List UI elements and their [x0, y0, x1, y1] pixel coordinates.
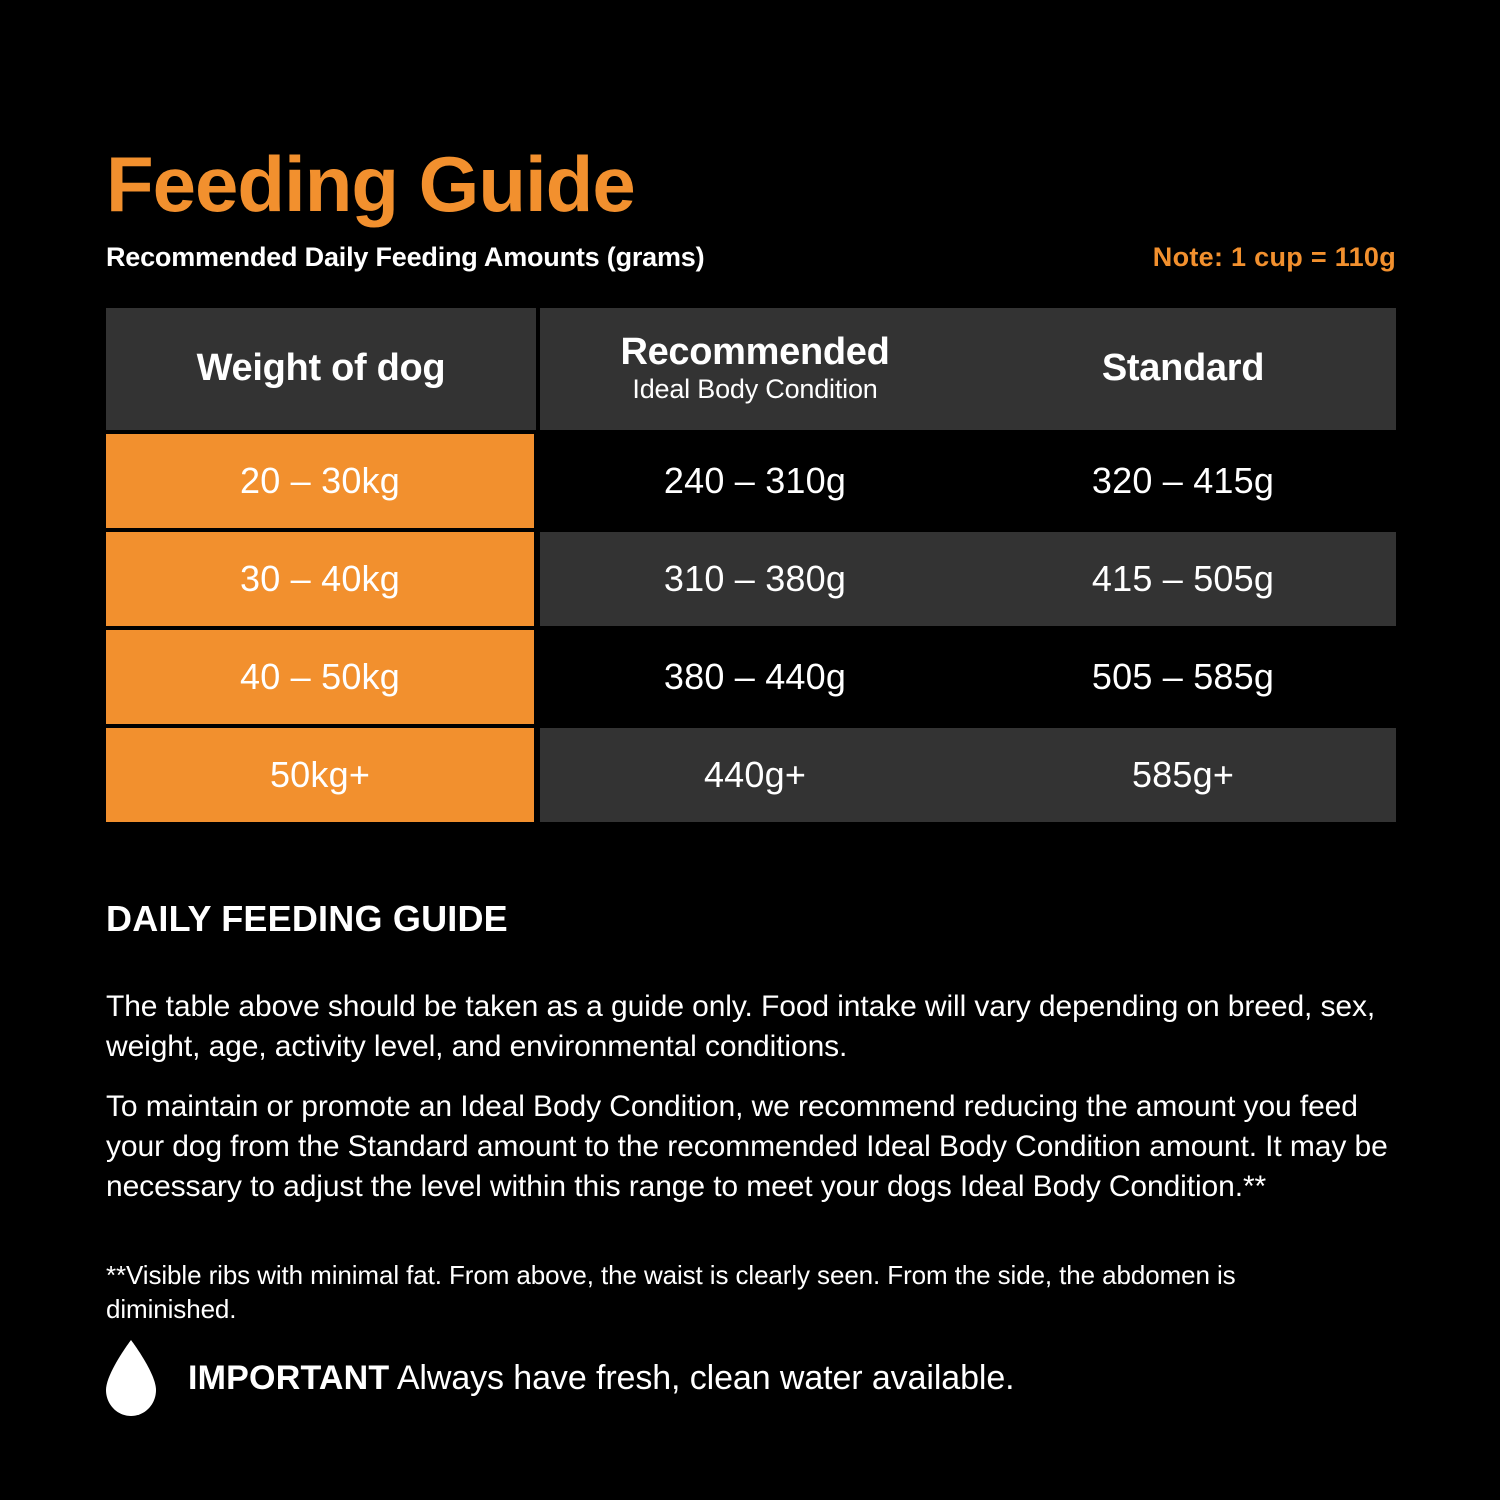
subheader-row: Recommended Daily Feeding Amounts (grams… [106, 242, 1396, 273]
header-standard-label: Standard [1102, 349, 1264, 389]
cell-recommended: 310 – 380g [540, 532, 970, 626]
cell-standard: 415 – 505g [970, 532, 1396, 626]
cell-weight: 40 – 50kg [106, 630, 534, 724]
cup-conversion-note: Note: 1 cup = 110g [1153, 242, 1396, 273]
cell-recommended: 380 – 440g [540, 630, 970, 724]
guide-paragraph-1: The table above should be taken as a gui… [106, 987, 1394, 1067]
important-label: IMPORTANT [188, 1359, 389, 1397]
subheader-label: Recommended Daily Feeding Amounts (grams… [106, 242, 704, 273]
header-recommended-label: Recommended [620, 333, 889, 373]
table-row: 50kg+ 440g+ 585g+ [106, 728, 1396, 822]
cell-recommended: 240 – 310g [540, 434, 970, 528]
important-text: IMPORTANT Always have fresh, clean water… [188, 1359, 1015, 1398]
cell-weight: 20 – 30kg [106, 434, 534, 528]
important-notice: IMPORTANT Always have fresh, clean water… [106, 1340, 1015, 1416]
table-row: 20 – 30kg 240 – 310g 320 – 415g [106, 434, 1396, 528]
header-cell-standard: Standard [970, 308, 1396, 430]
cell-weight: 50kg+ [106, 728, 534, 822]
table-row: 40 – 50kg 380 – 440g 505 – 585g [106, 630, 1396, 724]
cell-standard: 320 – 415g [970, 434, 1396, 528]
important-message: Always have fresh, clean water available… [397, 1359, 1015, 1397]
section-title-daily-feeding-guide: DAILY FEEDING GUIDE [106, 898, 508, 940]
feeding-guide-page: Feeding Guide Recommended Daily Feeding … [0, 0, 1500, 1500]
feeding-table: Weight of dog Recommended Ideal Body Con… [106, 308, 1396, 822]
cell-standard: 505 – 585g [970, 630, 1396, 724]
cell-standard: 585g+ [970, 728, 1396, 822]
header-weight-label: Weight of dog [197, 349, 446, 389]
header-cell-weight: Weight of dog [106, 308, 536, 430]
guide-footnote: **Visible ribs with minimal fat. From ab… [106, 1258, 1336, 1327]
header-cell-recommended: Recommended Ideal Body Condition [540, 308, 970, 430]
header-recommended-sublabel: Ideal Body Condition [632, 374, 877, 405]
cell-recommended: 440g+ [540, 728, 970, 822]
cell-weight: 30 – 40kg [106, 532, 534, 626]
page-title: Feeding Guide [106, 145, 635, 223]
table-row: 30 – 40kg 310 – 380g 415 – 505g [106, 532, 1396, 626]
water-drop-icon [106, 1340, 156, 1416]
guide-paragraph-2: To maintain or promote an Ideal Body Con… [106, 1087, 1394, 1207]
table-header-row: Weight of dog Recommended Ideal Body Con… [106, 308, 1396, 430]
